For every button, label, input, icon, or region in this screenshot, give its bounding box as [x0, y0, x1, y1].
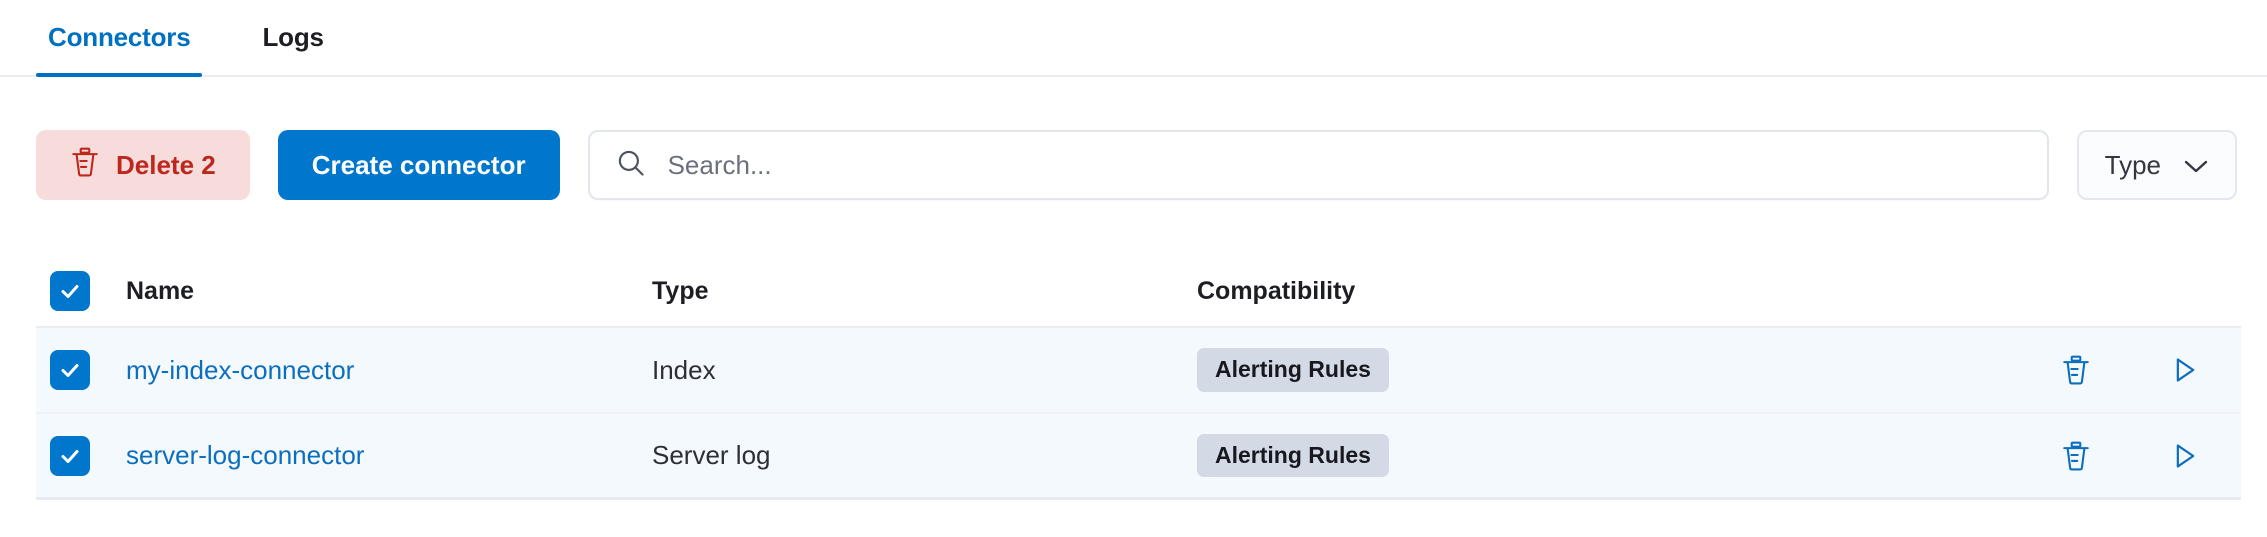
- delete-button-label: Delete 2: [116, 150, 216, 181]
- type-filter-dropdown[interactable]: Type: [2077, 130, 2237, 200]
- tab-connectors[interactable]: Connectors: [36, 0, 202, 75]
- trash-icon: [2061, 354, 2091, 386]
- row-select-cell: [50, 350, 112, 390]
- select-all-checkbox[interactable]: [50, 271, 90, 311]
- row-run-button[interactable]: [2169, 440, 2199, 472]
- row-name-cell: server-log-connector: [112, 440, 652, 471]
- row-type-cell: Index: [652, 355, 1197, 386]
- chevron-down-icon: [2183, 150, 2209, 181]
- trash-icon: [2061, 440, 2091, 472]
- row-run-button[interactable]: [2169, 354, 2199, 386]
- search-box[interactable]: [588, 130, 2049, 200]
- tab-logs-label: Logs: [262, 22, 323, 53]
- tab-bar: Connectors Logs: [0, 0, 2267, 77]
- table-header-row: Name Type Compatibility: [36, 256, 2241, 328]
- trash-icon: [70, 146, 100, 185]
- connector-name-link[interactable]: my-index-connector: [126, 355, 354, 385]
- row-actions-cell: [1901, 354, 2221, 386]
- play-icon: [2169, 354, 2199, 386]
- tab-logs[interactable]: Logs: [250, 0, 335, 75]
- connectors-page: Connectors Logs Delete 2 Create connecto…: [0, 0, 2267, 537]
- play-icon: [2169, 440, 2199, 472]
- compatibility-badge: Alerting Rules: [1197, 434, 1389, 477]
- connector-name-link[interactable]: server-log-connector: [126, 440, 364, 470]
- tab-connectors-label: Connectors: [48, 22, 190, 53]
- search-icon: [616, 148, 646, 183]
- column-header-name[interactable]: Name: [112, 277, 652, 306]
- column-header-compatibility[interactable]: Compatibility: [1197, 277, 1901, 306]
- delete-button[interactable]: Delete 2: [36, 130, 250, 200]
- create-connector-label: Create connector: [312, 150, 526, 181]
- row-checkbox[interactable]: [50, 350, 90, 390]
- create-connector-button[interactable]: Create connector: [278, 130, 560, 200]
- compatibility-badge: Alerting Rules: [1197, 348, 1389, 391]
- column-header-type[interactable]: Type: [652, 277, 1197, 306]
- connectors-table: Name Type Compatibility my-index-connect…: [36, 256, 2241, 500]
- row-delete-button[interactable]: [2061, 354, 2091, 386]
- row-compatibility-cell: Alerting Rules: [1197, 434, 1901, 477]
- toolbar: Delete 2 Create connector Type: [0, 128, 2267, 202]
- table-row[interactable]: my-index-connector Index Alerting Rules: [36, 328, 2241, 414]
- row-name-cell: my-index-connector: [112, 355, 652, 386]
- row-delete-button[interactable]: [2061, 440, 2091, 472]
- row-compatibility-cell: Alerting Rules: [1197, 348, 1901, 391]
- table-row[interactable]: server-log-connector Server log Alerting…: [36, 414, 2241, 500]
- type-filter-label: Type: [2105, 150, 2161, 181]
- search-input[interactable]: [668, 132, 2021, 198]
- select-all-cell: [50, 271, 112, 311]
- row-checkbox[interactable]: [50, 436, 90, 476]
- row-actions-cell: [1901, 440, 2221, 472]
- row-select-cell: [50, 436, 112, 476]
- row-type-cell: Server log: [652, 440, 1197, 471]
